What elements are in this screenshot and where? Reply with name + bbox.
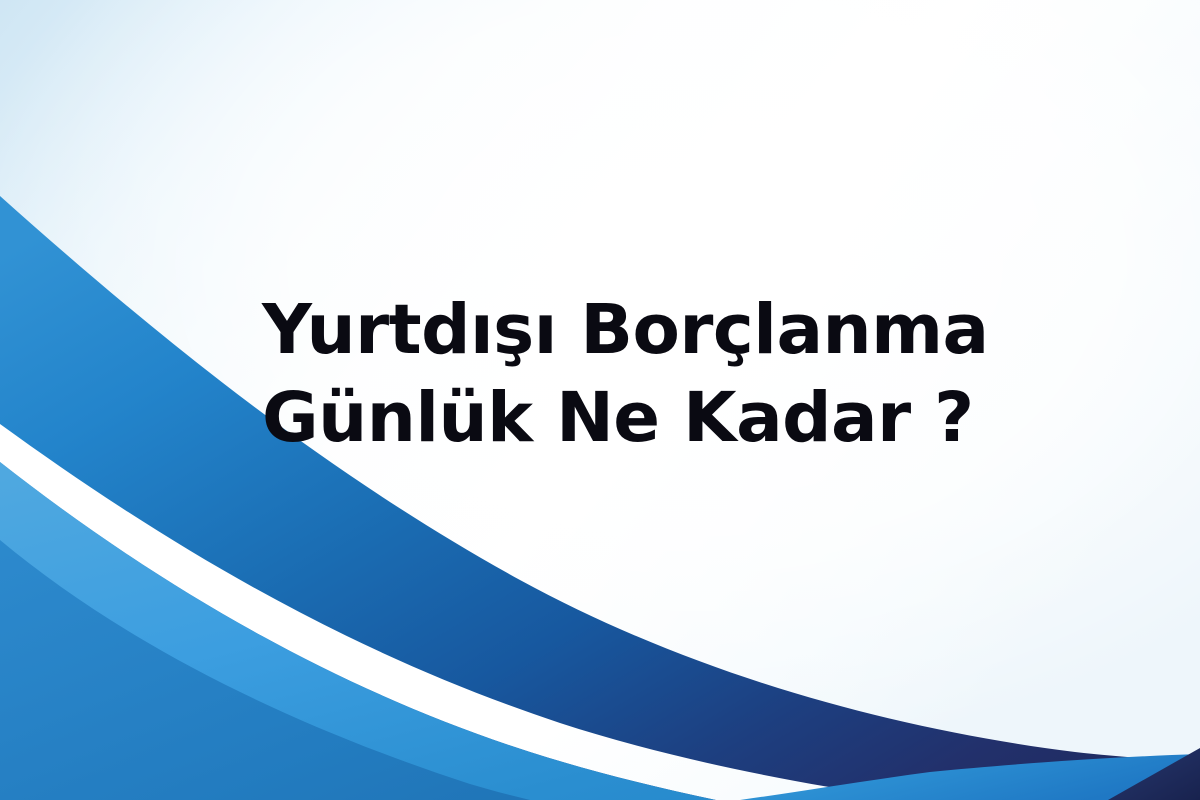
title-line-1: Yurtdışı Borçlanma <box>262 286 962 374</box>
page-title: Yurtdışı Borçlanma Günlük Ne Kadar ? <box>262 286 962 462</box>
title-line-2: Günlük Ne Kadar ? <box>262 374 962 462</box>
banner-canvas: Yurtdışı Borçlanma Günlük Ne Kadar ? <box>0 0 1200 800</box>
